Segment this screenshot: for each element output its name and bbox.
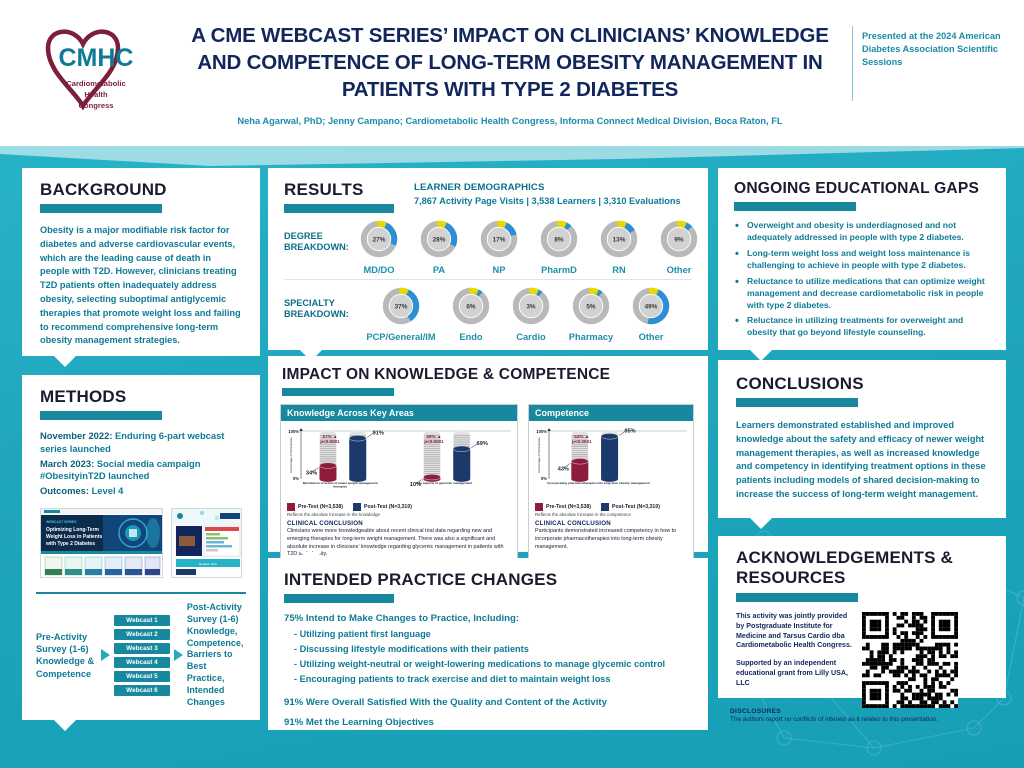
ack-grant-text: Supported by an independent educational … [736, 659, 848, 687]
list-item: Reluctance to utilize medications that c… [734, 276, 990, 312]
svg-text:6%: 6% [466, 304, 476, 311]
methods-line-val: Level 4 [89, 485, 123, 496]
conclusions-title: CONCLUSIONS [736, 374, 1006, 393]
competence-chart-legend: Pre-Test (N=3,538) Post-Test (N=3,310) [529, 500, 693, 511]
objectives-stat: 91% Met the Learning Objectives [284, 717, 692, 728]
knowledge-conclusion-title: CLINICAL CONCLUSION [287, 520, 511, 527]
svg-text:17%: 17% [493, 237, 506, 244]
section-impact: IMPACT ON KNOWLEDGE & COMPETENCE Knowled… [268, 356, 708, 552]
svg-text:27%: 27% [373, 237, 386, 244]
knowledge-chart-footnote: Reflects the absolute increase in the kn… [281, 511, 517, 520]
methods-screenshots: WEBCAST SERIES Optimizing Long-Term Weig… [40, 508, 242, 578]
list-item: - Discussing lifestyle modifications wit… [284, 644, 692, 654]
study-flow-diagram: Pre-Activity Survey (1-6) Knowledge & Co… [36, 592, 246, 710]
methods-rule [40, 411, 162, 420]
donut-chart-icon: 8% [539, 219, 579, 259]
donut-label: Pharmacy [562, 332, 620, 342]
cmhc-logo: CMHC Cardiometabolic Health Congress [30, 14, 165, 124]
svg-text:CMHC: CMHC [59, 44, 134, 72]
donut-label: PA [410, 265, 468, 275]
qr-code-icon[interactable] [862, 612, 958, 708]
list-item: Webcast 2 [114, 629, 170, 640]
donut-chart-icon: 17% [479, 219, 519, 259]
page-title: A CME WEBCAST SERIES’ IMPACT ON CLINICIA… [170, 22, 850, 103]
impact-title: IMPACT ON KNOWLEDGE & COMPETENCE [282, 366, 708, 383]
donut-item: 5% Pharmacy [562, 286, 620, 342]
svg-text:Health: Health [84, 90, 108, 99]
list-item: Webcast 3 [114, 643, 170, 654]
competence-chart-footnote: Reflects the absolute increase in the co… [529, 511, 693, 520]
methods-line-key: Outcomes: [40, 485, 89, 496]
donut-item: 28% PA [410, 219, 468, 275]
specialty-breakdown-row: SPECIALTY BREAKDOWN: 37% PCP/General/IM … [268, 286, 708, 342]
donut-item: 49% Other [622, 286, 680, 342]
svg-text:13%: 13% [613, 237, 626, 244]
list-item: Webcast 6 [114, 685, 170, 696]
list-item: Overweight and obesity is underdiagnosed… [734, 220, 990, 244]
donut-chart-icon: 28% [419, 219, 459, 259]
legend-swatch-pre [535, 503, 543, 511]
header-divider [852, 26, 853, 101]
donut-item: 37% PCP/General/IM [362, 286, 440, 342]
donut-chart-icon: 3% [511, 286, 551, 326]
background-title: BACKGROUND [40, 180, 260, 199]
knowledge-chart-title: Knowledge Across Key Areas [281, 405, 517, 421]
svg-text:Register Now: Register Now [199, 562, 218, 566]
svg-text:with Type 2 Diabetes: with Type 2 Diabetes [45, 541, 95, 547]
donut-item: 13% RN [590, 219, 648, 275]
donut-chart-icon: 6% [451, 286, 491, 326]
competence-conclusion-text: Participants demonstrated increased comp… [535, 528, 687, 551]
svg-text:91%: 91% [373, 431, 384, 437]
knowledge-conclusion-text: Clinicians were more knowledgeable about… [287, 528, 511, 559]
donut-chart-icon: 9% [659, 219, 699, 259]
donut-chart-icon: 27% [359, 219, 399, 259]
section-results: RESULTS LEARNER DEMOGRAPHICS 7,867 Activ… [268, 168, 708, 350]
impact-rule [282, 388, 394, 396]
svg-text:p<0.0001: p<0.0001 [572, 439, 592, 444]
list-item: - Utilizing patient first language [284, 629, 692, 639]
methods-line: Outcomes: Level 4 [40, 485, 242, 498]
section-background: BACKGROUND Obesity is a major modifiable… [22, 168, 260, 356]
conclusions-rule [736, 398, 858, 407]
satisfaction-stat: 91% Were Overall Satisfied With the Qual… [284, 697, 692, 708]
section-educational-gaps: ONGOING EDUCATIONAL GAPS Overweight and … [718, 168, 1006, 350]
legend-swatch-post [601, 503, 609, 511]
legend-label-pre: Pre-Test (N=3,538) [298, 504, 343, 510]
cmhc-logo-icon: CMHC Cardiometabolic Health Congress [30, 14, 165, 124]
donut-label: PharmD [530, 265, 588, 275]
ack-title: ACKNOWLEDGEMENTS & RESOURCES [736, 548, 1006, 588]
donut-item: 3% Cardio [502, 286, 560, 342]
competence-chart-title: Competence [529, 405, 693, 421]
poster-title-block: A CME WEBCAST SERIES’ IMPACT ON CLINICIA… [170, 22, 850, 103]
svg-text:37%: 37% [395, 304, 408, 311]
disclosures-text: The authors report no conflicts of inter… [730, 716, 1020, 723]
results-separator [284, 279, 692, 280]
gaps-title: ONGOING EDUCATIONAL GAPS [734, 180, 1006, 197]
donut-chart-icon: 37% [381, 286, 421, 326]
list-item: Reluctance in utilizing treatments for o… [734, 315, 990, 339]
list-item: Webcast 5 [114, 671, 170, 682]
list-item: - Utilizing weight-neutral or weight-low… [284, 659, 692, 669]
flow-divider [36, 592, 246, 594]
section-conclusions: CONCLUSIONS Learners demonstrated establ… [718, 360, 1006, 518]
svg-text:8%: 8% [554, 237, 564, 244]
svg-text:49%: 49% [645, 304, 658, 311]
donut-label: PCP/General/IM [362, 332, 440, 342]
background-text: Obesity is a major modifiable risk facto… [40, 224, 242, 348]
donut-label: RN [590, 265, 648, 275]
svg-text:Weight Loss in Patients: Weight Loss in Patients [46, 534, 103, 540]
donut-item: 6% Endo [442, 286, 500, 342]
activity-page-thumbnail[interactable]: Register Now [171, 508, 242, 578]
svg-text:Percentage of Participants: Percentage of Participants [537, 437, 541, 473]
ack-rule [736, 593, 858, 602]
donut-chart-icon: 13% [599, 219, 639, 259]
methods-line-key: November 2022: [40, 430, 112, 441]
svg-text:Cardiometabolic: Cardiometabolic [66, 79, 126, 88]
donut-item: 8% PharmD [530, 219, 588, 275]
legend-label-post: Post-Test (N=3,310) [612, 504, 660, 510]
donut-item: 17% NP [470, 219, 528, 275]
flow-pre-activity-label: Pre-Activity Survey (1-6) Knowledge & Co… [36, 631, 97, 680]
competence-conclusion-title: CLINICAL CONCLUSION [535, 520, 687, 527]
conclusions-text: Learners demonstrated established and im… [736, 419, 988, 502]
flow-arrow-right-icon [174, 649, 183, 661]
degree-donut-group: 27% MD/DO 28% PA 17% NP 8% [350, 219, 708, 275]
degree-breakdown-label: DEGREE BREAKDOWN: [284, 219, 350, 253]
svg-text:100%: 100% [536, 429, 547, 434]
svg-text:9%: 9% [674, 237, 684, 244]
disclosures-title: DISCLOSURES [730, 708, 1020, 715]
methods-line-key: March 2023: [40, 458, 94, 469]
svg-text:p<0.0001: p<0.0001 [424, 439, 444, 444]
svg-text:Optimizing Long-Term: Optimizing Long-Term [46, 527, 100, 533]
learner-demographics-stats: 7,867 Activity Page Visits | 3,538 Learn… [414, 196, 681, 206]
svg-text:69%: 69% [477, 441, 488, 447]
gaps-rule [734, 202, 856, 211]
svg-text:Key aspects of glycemic manage: Key aspects of glycemic management [416, 481, 472, 485]
methods-title: METHODS [40, 387, 260, 406]
svg-text:28%: 28% [433, 237, 446, 244]
background-rule [40, 204, 162, 213]
ack-provider-text: This activity was jointly provided by Po… [736, 612, 852, 649]
svg-text:0%: 0% [293, 476, 299, 481]
webcast-series-thumbnail[interactable]: WEBCAST SERIES Optimizing Long-Term Weig… [40, 508, 163, 578]
flow-arrow-right-icon [101, 649, 110, 661]
results-rule [284, 204, 394, 213]
svg-text:3%: 3% [526, 304, 536, 311]
donut-chart-icon: 49% [631, 286, 671, 326]
legend-swatch-pre [287, 503, 295, 511]
presented-at: Presented at the 2024 American Diabetes … [862, 30, 1012, 69]
knowledge-chart-legend: Pre-Test (N=3,538) Post-Test (N=3,310) [281, 500, 517, 511]
disclosures-block: DISCLOSURES The authors report no confli… [730, 708, 1020, 723]
knowledge-bar-chart: 100%0%Percentage of Participants34%91%57… [281, 421, 517, 500]
donut-label: Other [622, 332, 680, 342]
methods-lines: November 2022: Enduring 6-part webcast s… [40, 430, 242, 498]
donut-label: MD/DO [350, 265, 408, 275]
flow-post-activity-label: Post-Activity Survey (1-6) Knowledge, Co… [187, 602, 246, 709]
legend-label-post: Post-Test (N=3,310) [364, 504, 412, 510]
list-item: Webcast 4 [114, 657, 170, 668]
list-item: Long-term weight loss and weight loss ma… [734, 248, 990, 272]
competence-chart-card: Competence 100%0%Percentage of Participa… [528, 404, 694, 565]
svg-text:WEBCAST SERIES: WEBCAST SERIES [46, 520, 77, 524]
poster-header: CMHC Cardiometabolic Health Congress A C… [0, 0, 1024, 146]
knowledge-chart-card: Knowledge Across Key Areas 100%0%Percent… [280, 404, 518, 565]
donut-label: Endo [442, 332, 500, 342]
svg-text:Incorporating pharmacotherapie: Incorporating pharmacotherapies into lon… [547, 481, 650, 485]
methods-line: March 2023: Social media campaign #Obesi… [40, 458, 242, 484]
svg-text:Percentage of Participants: Percentage of Participants [289, 437, 293, 473]
svg-text:5%: 5% [586, 304, 596, 311]
donut-item: 27% MD/DO [350, 219, 408, 275]
section-acknowledgements: ACKNOWLEDGEMENTS & RESOURCES This activi… [718, 536, 1006, 698]
donut-item: 9% Other [650, 219, 708, 275]
svg-text:100%: 100% [288, 429, 299, 434]
donut-chart-icon: 5% [571, 286, 611, 326]
author-list: Neha Agarwal, PhD; Jenny Campano; Cardio… [170, 116, 850, 126]
results-title: RESULTS [284, 180, 406, 199]
svg-text:95%: 95% [624, 429, 635, 435]
svg-text:34%: 34% [306, 471, 317, 477]
list-item: Webcast 1 [114, 615, 170, 626]
degree-breakdown-row: DEGREE BREAKDOWN: 27% MD/DO 28% PA 17% [268, 219, 708, 275]
donut-label: Cardio [502, 332, 560, 342]
section-methods: METHODS November 2022: Enduring 6-part w… [22, 375, 260, 720]
learner-demographics-title: LEARNER DEMOGRAPHICS [414, 182, 681, 193]
svg-text:p<0.0001: p<0.0001 [320, 439, 340, 444]
svg-text:43%: 43% [558, 467, 569, 473]
svg-text:Congress: Congress [78, 101, 113, 110]
legend-swatch-post [353, 503, 361, 511]
methods-line: November 2022: Enduring 6-part webcast s… [40, 430, 242, 456]
list-item: - Encouraging patients to track exercise… [284, 674, 692, 684]
specialty-donut-group: 37% PCP/General/IM 6% Endo 3% Cardio [362, 286, 680, 342]
competence-bar-chart: 100%0%Percentage of Participants43%95%52… [529, 421, 693, 500]
ack-text-block: This activity was jointly provided by Po… [736, 612, 856, 708]
donut-label: Other [650, 265, 708, 275]
donut-label: NP [470, 265, 528, 275]
specialty-breakdown-label: SPECIALTY BREAKDOWN: [284, 286, 362, 320]
svg-text:therapies: therapies [333, 485, 347, 489]
legend-label-pre: Pre-Test (N=3,538) [546, 504, 591, 510]
intended-head: 75% Intend to Make Changes to Practice, … [284, 613, 692, 624]
flow-webcast-list: Webcast 1 Webcast 2 Webcast 3 Webcast 4 … [114, 615, 170, 696]
intended-title: INTENDED PRACTICE CHANGES [284, 570, 708, 589]
section-intended-practice-changes: INTENDED PRACTICE CHANGES 75% Intend to … [268, 558, 708, 730]
intended-rule [284, 594, 394, 603]
